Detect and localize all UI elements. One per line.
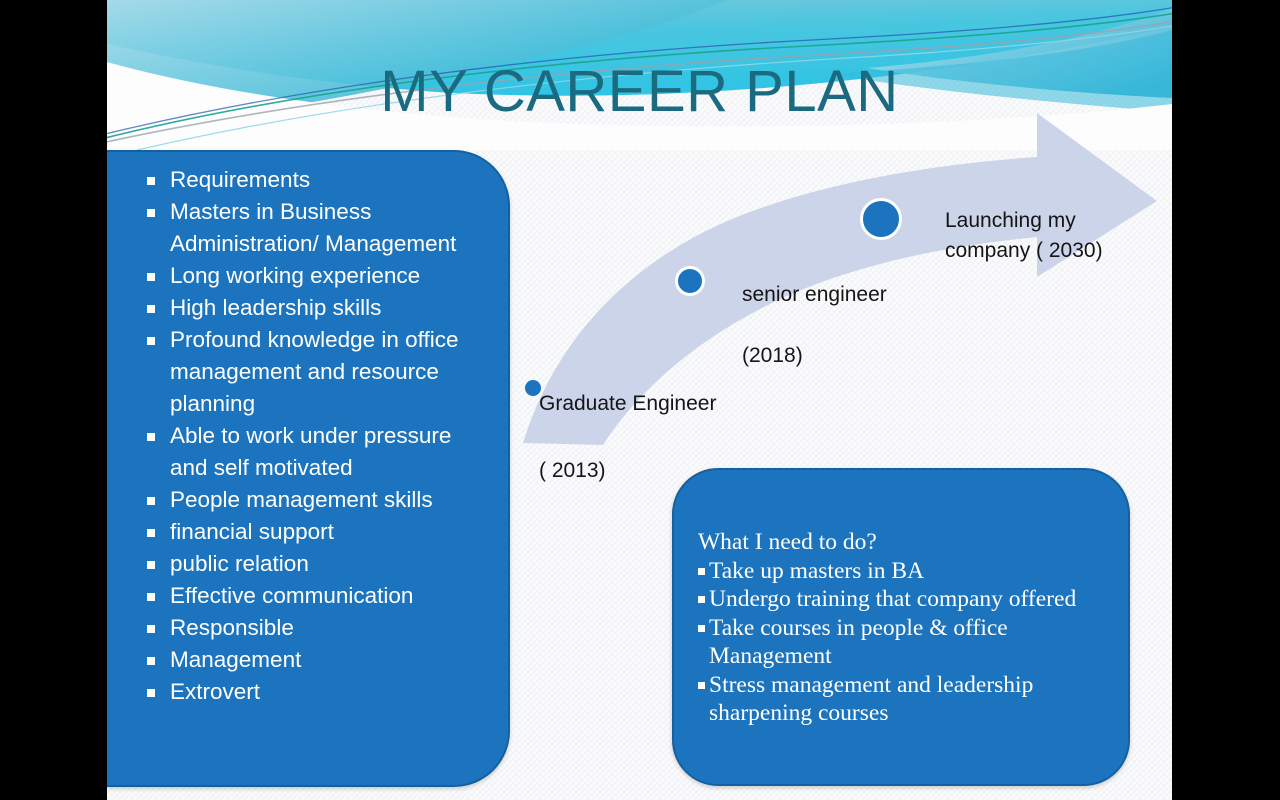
todo-panel: What I need to do? Take up masters in BA… — [672, 468, 1130, 786]
requirements-list: Requirements Masters in Business Adminis… — [107, 164, 508, 708]
letterbox-left — [0, 0, 107, 800]
todo-list-item: Take up masters in BA — [698, 557, 1100, 586]
milestone-year: ( 2013) — [539, 456, 606, 486]
milestone-year: (2018) — [742, 341, 803, 371]
todo-list-item: Undergo training that company offered — [698, 585, 1100, 614]
milestone-dot-icon — [675, 266, 705, 296]
todo-panel-title: What I need to do? — [698, 528, 1100, 557]
list-item: Extrovert — [127, 676, 494, 708]
list-item: Requirements — [127, 164, 494, 196]
list-item: financial support — [127, 516, 494, 548]
list-item: Responsible — [127, 612, 494, 644]
list-item: Able to work under pressure and self mot… — [127, 420, 494, 484]
milestone-label: senior engineer — [742, 280, 892, 310]
list-item: High leadership skills — [127, 292, 494, 324]
list-item: Effective communication — [127, 580, 494, 612]
list-item: Profound knowledge in office management … — [127, 324, 494, 420]
letterbox-right — [1172, 0, 1280, 800]
list-item: Management — [127, 644, 494, 676]
list-item: Masters in Business Administration/ Mana… — [127, 196, 494, 260]
requirements-panel: Requirements Masters in Business Adminis… — [107, 150, 510, 787]
todo-list-item: Take courses in people & office Manageme… — [698, 614, 1100, 671]
slide-canvas: MY CAREER PLAN Graduate Engineer ( 2013)… — [107, 0, 1172, 800]
milestone-dot-icon — [860, 198, 902, 240]
list-item: People management skills — [127, 484, 494, 516]
slide-root: MY CAREER PLAN Graduate Engineer ( 2013)… — [0, 0, 1280, 800]
milestone-label: Graduate Engineer — [539, 389, 729, 419]
page-title: MY CAREER PLAN — [107, 58, 1172, 125]
milestone-label: Launching my company ( 2030) — [945, 206, 1125, 266]
list-item: Long working experience — [127, 260, 494, 292]
todo-list-item: Stress management and leadership sharpen… — [698, 671, 1100, 728]
list-item: public relation — [127, 548, 494, 580]
